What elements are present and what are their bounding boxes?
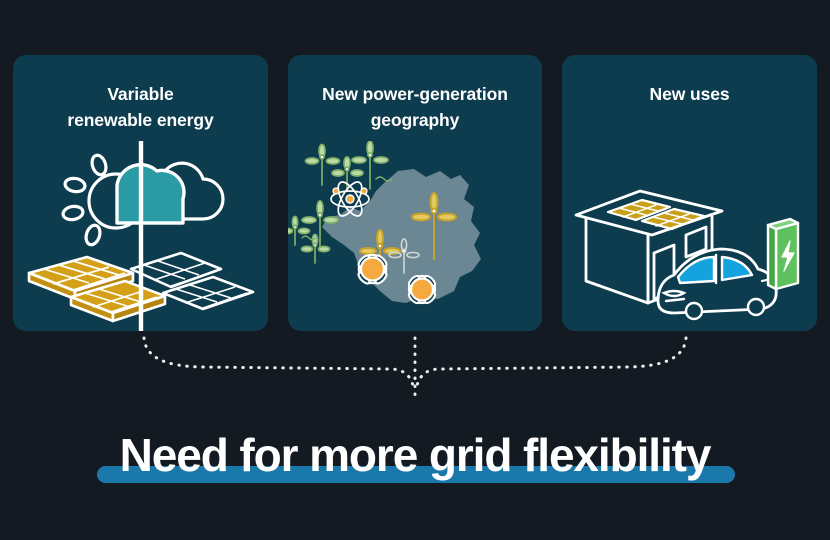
france-map-generation-icon — [288, 141, 542, 331]
card-variable-renewable-energy[interactable]: Variable renewable energy — [13, 55, 268, 331]
card-title: Variable renewable energy — [13, 81, 268, 133]
headline-text: Need for more grid flexibility — [0, 424, 830, 486]
sun-cloud-solar-panels-icon — [13, 141, 268, 331]
card-title: New uses — [562, 81, 817, 107]
card-new-power-generation-geography[interactable]: New power-generation geography — [288, 55, 542, 331]
house-ev-charger-icon — [562, 141, 817, 331]
card-title: New power-generation geography — [288, 81, 542, 133]
dotted-brace-connector — [140, 336, 690, 404]
infographic-canvas: Variable renewable energy — [0, 0, 830, 540]
headline-block: Need for more grid flexibility — [0, 424, 830, 496]
card-new-uses[interactable]: New uses — [562, 55, 817, 331]
